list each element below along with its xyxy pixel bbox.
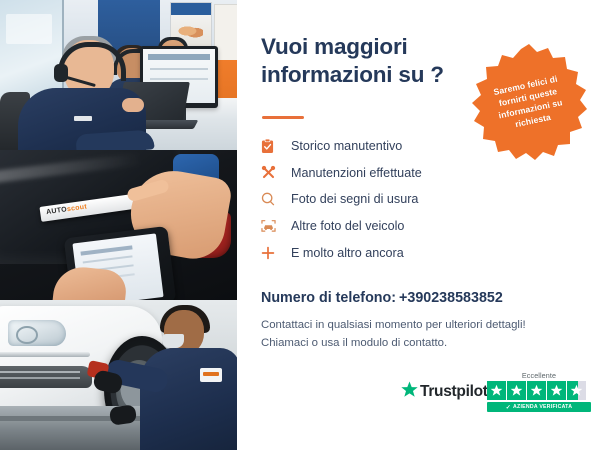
- verified-business-badge: ✓ AZIENDA VERIFICATA: [487, 402, 591, 412]
- contact-subtext-line-2: Chiamaci o usa il modulo di contatto.: [261, 334, 561, 352]
- feature-item-storico-manutentivo: Storico manutentivo: [261, 133, 491, 160]
- feature-item-foto-segni-usura: Foto dei segni di usura: [261, 186, 491, 213]
- car-photo-frame-icon: [261, 216, 283, 236]
- feature-item-altre-foto-veicolo: Altre foto del veicolo: [261, 213, 491, 240]
- mechanic-wheel-inspection-photo: [0, 300, 237, 450]
- feature-label: E molto altro ancora: [291, 246, 404, 260]
- feature-item-molto-altro: E molto altro ancora: [261, 239, 491, 266]
- title-divider: [262, 116, 304, 119]
- strip-logo: AUTOscout: [46, 203, 88, 216]
- phone-label: Numero di telefono:: [261, 290, 396, 306]
- trustpilot-stars: [487, 381, 591, 400]
- phone-number[interactable]: +390238583852: [399, 290, 503, 306]
- badge-text: Saremo felici di fornirti queste informa…: [479, 70, 579, 137]
- star-filled: [547, 381, 566, 400]
- page-title: Vuoi maggiori informazioni su ?: [261, 33, 476, 90]
- trustpilot-rating: Eccellente: [487, 371, 591, 412]
- headline-line-2: informazioni su ?: [261, 61, 476, 89]
- headline-line-1: Vuoi maggiori: [261, 33, 476, 61]
- promo-banner: AUTOscout: [0, 0, 600, 450]
- clipboard-check-icon: [261, 136, 283, 156]
- trustpilot-rating-label: Eccellente: [487, 371, 591, 380]
- feature-label: Manutenzioni effettuate: [291, 166, 422, 180]
- star-filled: [527, 381, 546, 400]
- tools-cross-icon: [261, 163, 283, 183]
- feature-label: Foto dei segni di usura: [291, 192, 418, 206]
- paint-thickness-measurement-photo: AUTOscout: [0, 150, 237, 300]
- content-panel: Vuoi maggiori informazioni su ? Saremo f…: [237, 0, 600, 450]
- contact-subtext: Contattaci in qualsiasi momento per ulte…: [261, 316, 561, 352]
- feature-item-manutenzioni-effettuate: Manutenzioni effettuate: [261, 160, 491, 187]
- call-center-agents-photo: [0, 0, 237, 150]
- verified-check-icon: ✓: [506, 404, 511, 411]
- trustpilot-star-icon: [401, 381, 418, 403]
- star-partial: [567, 381, 586, 400]
- feature-list: Storico manutentivo Manutenzioni effettu…: [261, 133, 491, 266]
- trustpilot-wordmark: Trustpilot: [420, 383, 488, 401]
- star-filled: [487, 381, 506, 400]
- trustpilot-widget[interactable]: Trustpilot Eccellente: [401, 371, 591, 419]
- contact-subtext-line-1: Contattaci in qualsiasi momento per ulte…: [261, 316, 561, 334]
- phone-line: Numero di telefono:+390238583852: [261, 290, 503, 306]
- feature-label: Altre foto del veicolo: [291, 219, 404, 233]
- trustpilot-logo: Trustpilot: [401, 381, 488, 403]
- verified-label: AZIENDA VERIFICATA: [513, 404, 572, 410]
- search-icon: [261, 189, 283, 209]
- star-filled: [507, 381, 526, 400]
- photo-collage: AUTOscout: [0, 0, 237, 450]
- plus-icon: [261, 243, 283, 263]
- feature-label: Storico manutentivo: [291, 139, 402, 153]
